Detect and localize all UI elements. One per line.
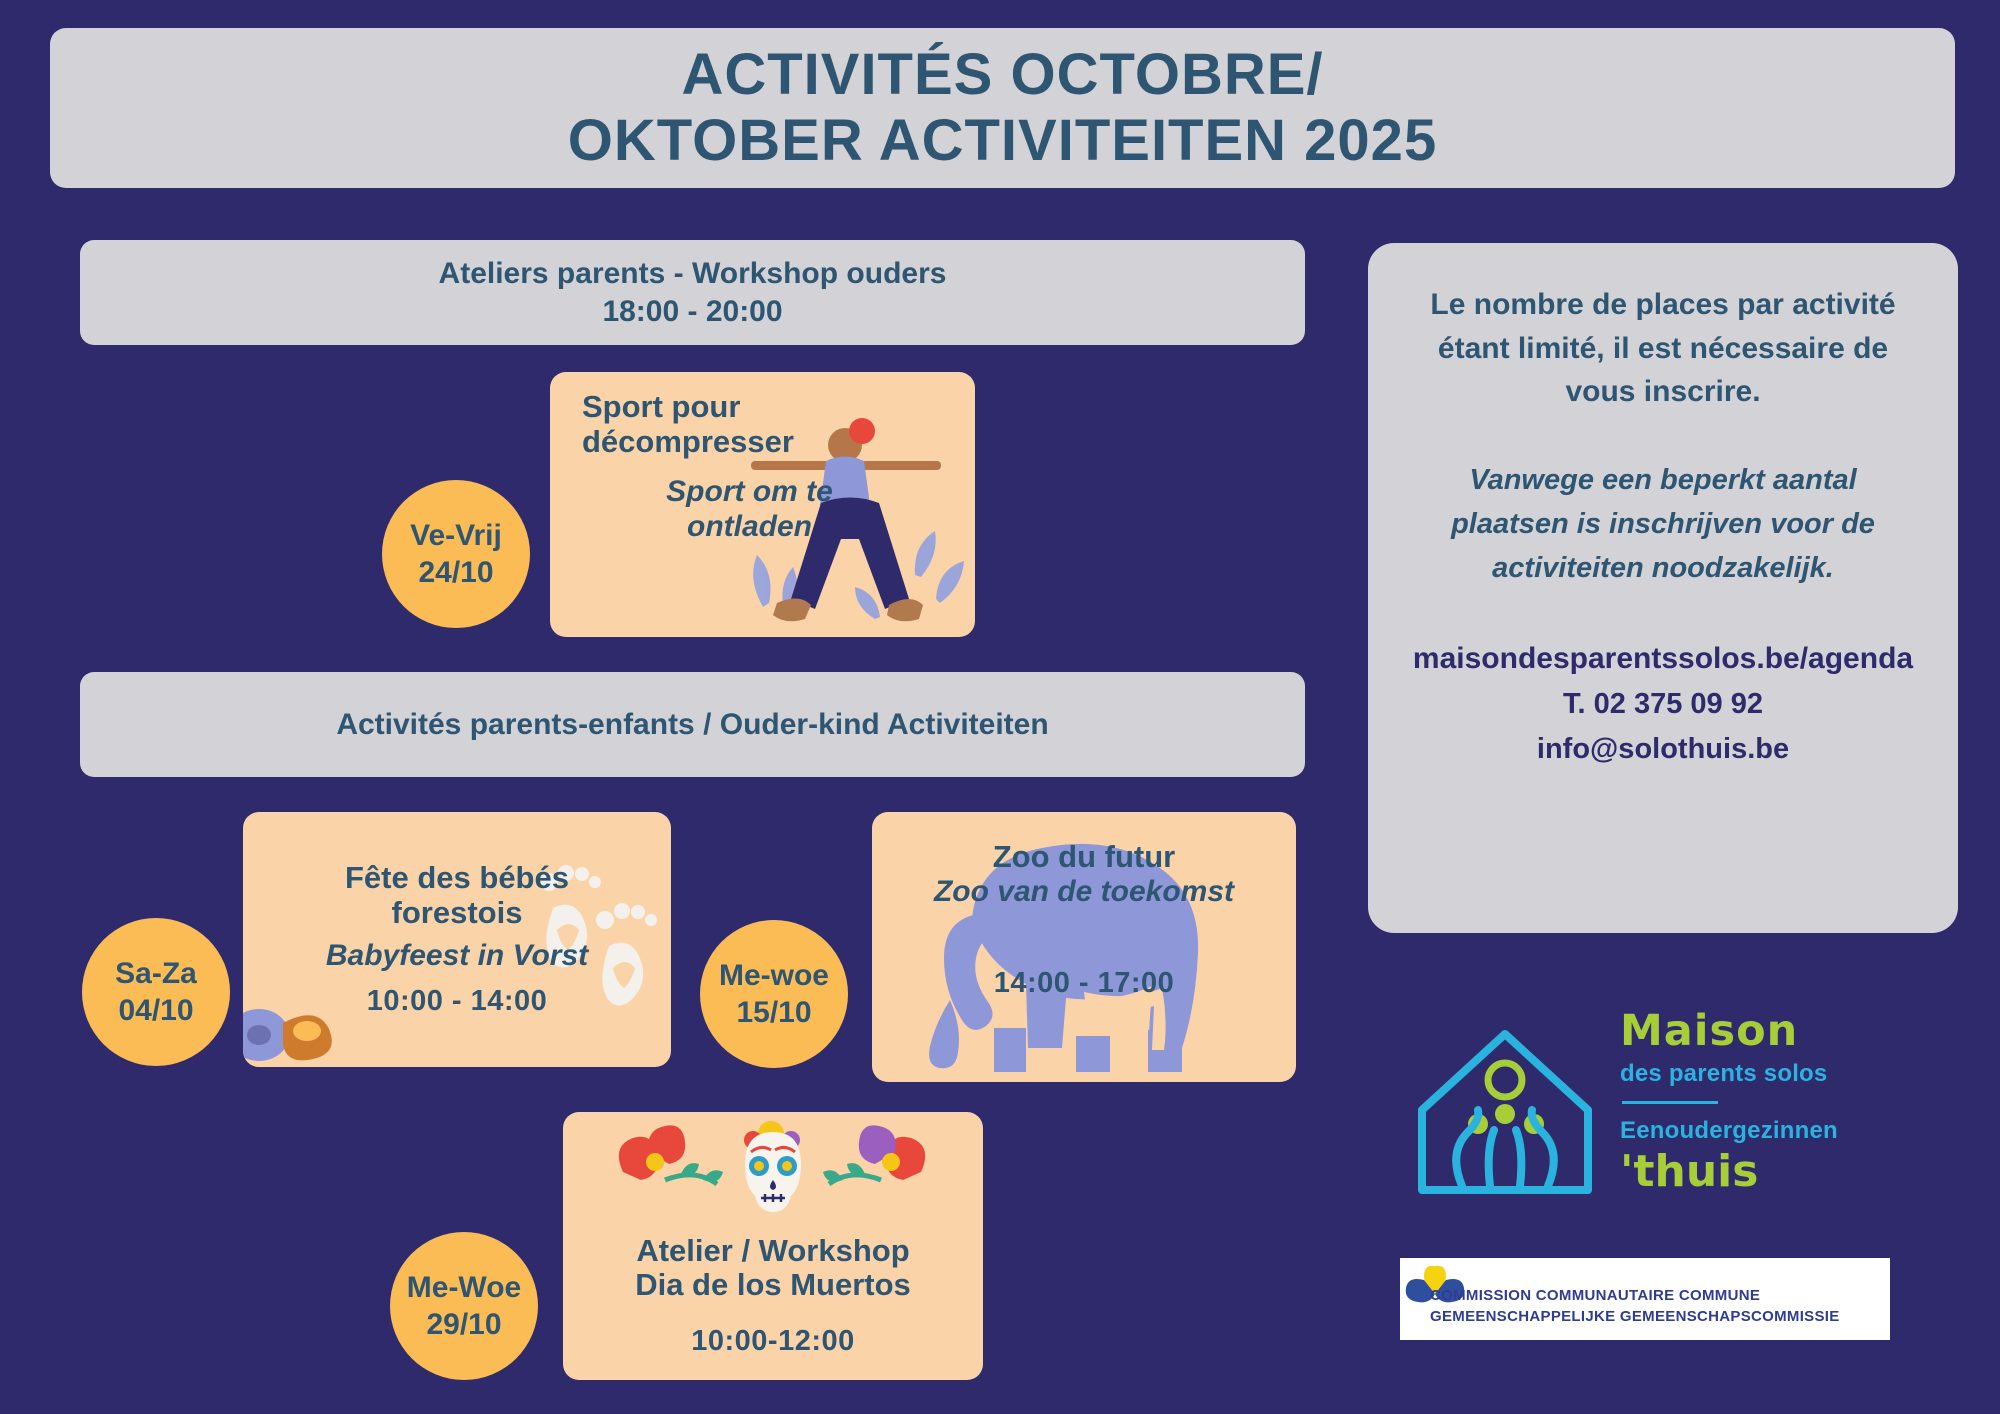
date-badge-zoo[interactable]: Me-woe 15/10 [700, 920, 848, 1068]
poster-title-banner: ACTIVITÉS OCTOBRE/ OKTOBER ACTIVITEITEN … [50, 28, 1955, 188]
card-title-nl-babyfeest: Babyfeest in Vorst [326, 939, 588, 973]
info-nl-line-1: Vanwege een beperkt aantal [1394, 458, 1932, 502]
registration-info-panel: Le nombre de places par activité étant l… [1368, 243, 1958, 933]
ccc-line-2: GEMEENSCHAPPELIJKE GEMEENSCHAPSCOMMISSIE [1430, 1307, 1840, 1328]
activity-card-muertos[interactable]: Atelier / Workshop Dia de los Muertos 10… [563, 1112, 983, 1380]
title-line-2: OKTOBER ACTIVITEITEN 2025 [568, 108, 1437, 174]
info-text-nl: Vanwege een beperkt aantal plaatsen is i… [1394, 458, 1932, 590]
logo-divider [1622, 1101, 1718, 1104]
activity-card-babyfeest[interactable]: Fête des bébés forestois Babyfeest in Vo… [243, 812, 671, 1067]
info-nl-line-2: plaatsen is inschrijven voor de [1394, 502, 1932, 546]
page-title: ACTIVITÉS OCTOBRE/ OKTOBER ACTIVITEITEN … [568, 42, 1437, 174]
ccc-ggc-logo: COMMISSION COMMUNAUTAIRE COMMUNE GEMEENS… [1400, 1258, 1890, 1340]
date-badge-muertos[interactable]: Me-Woe 29/10 [390, 1232, 538, 1380]
badge-day-muertos: Me-Woe [407, 1269, 521, 1307]
website-link[interactable]: maisondesparentssolos.be/agenda [1394, 636, 1932, 683]
card-time-zoo: 14:00 - 17:00 [994, 967, 1175, 1000]
section-title-workshops: Ateliers parents - Workshop ouders [439, 255, 947, 293]
info-fr-line-3: vous inscrire. [1394, 370, 1932, 414]
date-badge-babyfeest[interactable]: Sa-Za 04/10 [82, 918, 230, 1066]
section-header-family: Activités parents-enfants / Ouder-kind A… [80, 672, 1305, 777]
badge-date-zoo: 15/10 [736, 994, 811, 1032]
section-header-workshops: Ateliers parents - Workshop ouders 18:00… [80, 240, 1305, 345]
logo-wordmark: Maison des parents solos Eenoudergezinne… [1620, 1010, 1950, 1194]
maison-des-parents-solos-logo: Maison des parents solos Eenoudergezinne… [1410, 1010, 1950, 1260]
card-title-nl-sport-1: Sport om te [582, 475, 975, 509]
logo-eenoudergezinnen-text: Eenoudergezinnen [1620, 1116, 1950, 1146]
ccc-line-1: COMMISSION COMMUNAUTAIRE COMMUNE [1430, 1286, 1840, 1307]
phone-number[interactable]: T. 02 375 09 92 [1394, 682, 1932, 727]
card-title-fr-babyfeest-2: forestois [392, 896, 523, 931]
badge-date-muertos: 29/10 [426, 1306, 501, 1344]
logo-thuis-text: 'thuis [1620, 1150, 1950, 1194]
badge-day-sport: Ve-Vrij [410, 517, 502, 555]
logo-des-parents-solos-text: des parents solos [1620, 1059, 1950, 1089]
contact-block: maisondesparentssolos.be/agenda T. 02 37… [1394, 636, 1932, 772]
activity-card-sport[interactable]: Sport pour décompresser Sport om te ontl… [550, 372, 975, 637]
date-badge-sport[interactable]: Ve-Vrij 24/10 [382, 480, 530, 628]
card-title-fr-babyfeest-1: Fête des bébés [345, 861, 569, 896]
email-link[interactable]: info@solothuis.be [1394, 727, 1932, 772]
activity-card-zoo[interactable]: Zoo du futur Zoo van de toekomst 14:00 -… [872, 812, 1296, 1082]
card-title-fr-sport-1: Sport pour [582, 390, 975, 425]
poster-canvas: ACTIVITÉS OCTOBRE/ OKTOBER ACTIVITEITEN … [0, 0, 2000, 1414]
section-title-family: Activités parents-enfants / Ouder-kind A… [336, 706, 1048, 744]
card-title-fr-muertos-2: Dia de los Muertos [635, 1268, 911, 1303]
card-title-fr-muertos-1: Atelier / Workshop [636, 1234, 909, 1269]
card-time-babyfeest: 10:00 - 14:00 [367, 985, 548, 1018]
info-fr-line-2: étant limité, il est nécessaire de [1394, 327, 1932, 371]
info-text-fr: Le nombre de places par activité étant l… [1394, 283, 1932, 414]
card-time-muertos: 10:00-12:00 [691, 1325, 855, 1358]
section-time-workshops: 18:00 - 20:00 [602, 293, 782, 331]
logo-maison-text: Maison [1620, 1010, 1950, 1053]
badge-day-babyfeest: Sa-Za [115, 955, 197, 993]
badge-date-babyfeest: 04/10 [118, 992, 193, 1030]
card-title-fr-sport-2: décompresser [582, 425, 975, 460]
badge-day-zoo: Me-woe [719, 957, 829, 995]
info-nl-line-3: activiteiten noodzakelijk. [1394, 546, 1932, 590]
info-fr-line-1: Le nombre de places par activité [1394, 283, 1932, 327]
card-title-fr-zoo: Zoo du futur [993, 840, 1176, 875]
card-title-nl-sport-2: ontladen [582, 510, 975, 544]
ccc-logo-text: COMMISSION COMMUNAUTAIRE COMMUNE GEMEENS… [1430, 1286, 1840, 1327]
card-title-nl-zoo: Zoo van de toekomst [934, 875, 1234, 909]
badge-date-sport: 24/10 [418, 554, 493, 592]
title-line-1: ACTIVITÉS OCTOBRE/ [568, 42, 1437, 108]
house-logo-icon [1410, 1018, 1600, 1198]
